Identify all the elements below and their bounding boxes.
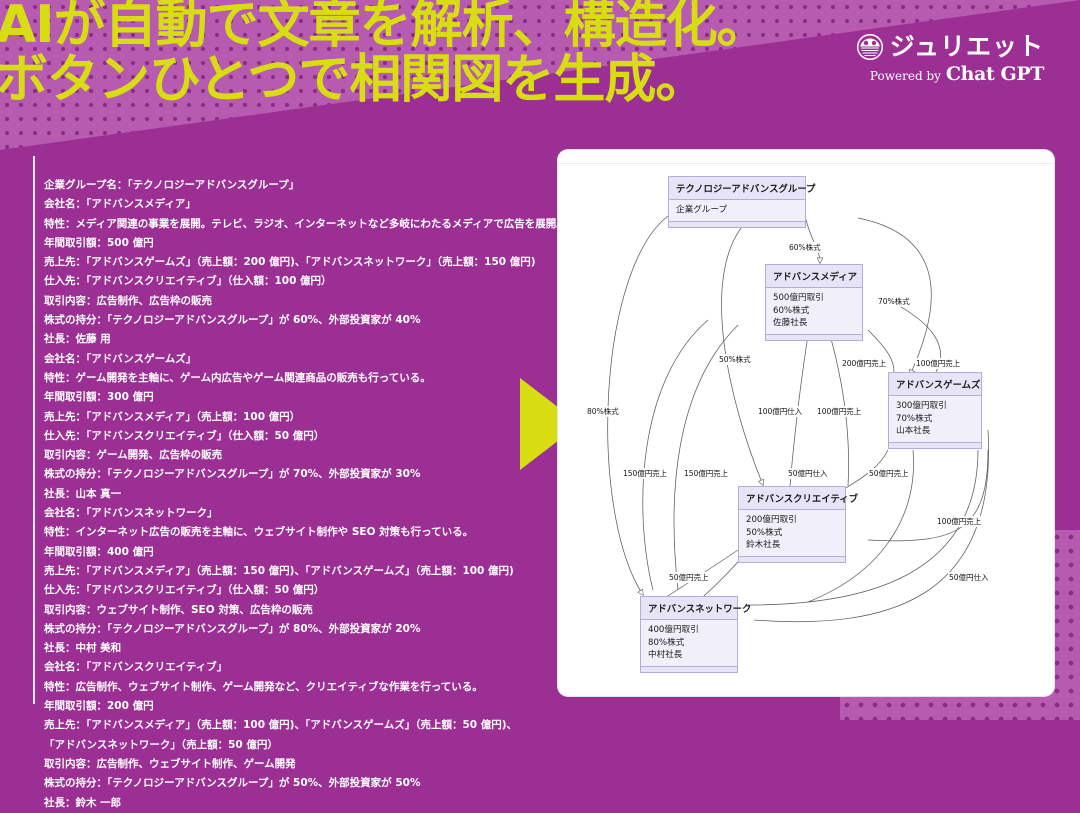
spec-line: 特性：インターネット広告の販売を主軸に、ウェブサイト制作や SEO 対策も行って… [44,523,544,542]
diagram-node-media[interactable]: アドバンスメディア 500億円取引 60%株式 佐藤社長 [765,264,863,341]
spec-line: 取引内容：ゲーム開発、広告枠の販売 [44,446,544,465]
page-header: AIが自動で文章を解析、構造化。 ボタンひとつで相関図を生成。 ジュリエット P… [0,0,1080,150]
node-title: アドバンスメディア [766,265,862,288]
headline-line-1: AIが自動で文章を解析、構造化。 [0,0,768,55]
diagram-node-group[interactable]: テクノロジーアドバンスグループ 企業グループ [668,176,806,228]
logo-powered-by: Powered by [870,69,941,83]
edge-label: 80%株式 [586,406,620,417]
edge-label: 150億円売上 [683,468,729,479]
spec-line: 売上先：「アドバンスゲームズ」（売上額：200 億円)、「アドバンスネットワーク… [44,253,544,272]
diagram-node-network[interactable]: アドバンスネットワーク 400億円取引 80%株式 中村社長 [640,596,738,673]
logo-wordmark: ジュリエット [890,34,1044,60]
spec-line: 会社名：「アドバンスゲームズ」 [44,350,544,369]
edge-label: 200億円売上 [841,358,887,369]
node-row: 50%株式 [746,527,838,540]
spec-line: 会社名：「アドバンスメディア」 [44,195,544,214]
spec-line: 取引内容：広告制作、ウェブサイト制作、ゲーム開発 [44,755,544,774]
edge-label: 50%株式 [718,354,752,365]
left-panel-divider [33,156,35,704]
node-title: テクノロジーアドバンスグループ [669,177,805,200]
edge-label: 70%株式 [877,296,911,307]
edge-label: 50億円売上 [868,468,909,479]
diagram-node-games[interactable]: アドバンスゲームズ 300億円取引 70%株式 山本社長 [888,372,982,449]
spec-line: 年間取引額：300 億円 [44,388,544,407]
edge-label: 100億円売上 [936,516,982,527]
node-row: 山本社長 [896,425,974,438]
node-row: 企業グループ [676,204,798,217]
spec-line: 特性：メディア関連の事業を展開。テレビ、ラジオ、インターネットなど多岐にわたるメ… [44,215,544,234]
node-footer [889,442,981,448]
spec-line: 特性：広告制作、ウェブサイト制作、ゲーム開発など、クリエイティブな作業を行ってい… [44,678,544,697]
edge-label: 50億円仕入 [787,468,828,479]
logo-chatgpt: Chat GPT [946,63,1044,85]
spec-line: 取引内容：ウェブサイト制作、SEO 対策、広告枠の販売 [44,601,544,620]
spec-line: 仕入先：「アドバンスクリエイティブ」（仕入額：100 億円） [44,272,544,291]
node-title: アドバンスネットワーク [641,597,737,620]
node-footer [739,556,845,562]
spec-line: 社長：鈴木 一郎 [44,794,544,813]
spec-line: 年間取引額：400 億円 [44,543,544,562]
spec-line: 「アドバンスネットワーク」（売上額：50 億円） [44,736,544,755]
spec-line: 社長：佐藤 用 [44,330,544,349]
node-row: 70%株式 [896,413,974,426]
spec-line: 売上先：「アドバンスメディア」（売上額：150 億円)、「アドバンスゲームズ」（… [44,562,544,581]
node-row: 200億円取引 [746,514,838,527]
node-row: 中村社長 [648,649,730,662]
edge-label: 50億円仕入 [948,572,989,583]
node-row: 60%株式 [773,305,855,318]
edge-label: 100億円売上 [915,358,961,369]
node-title: アドバンスゲームズ [889,373,981,396]
spec-line: 株式の持分：「テクノロジーアドバンスグループ」が 60%、外部投資家が 40% [44,311,544,330]
spec-line: 取引内容：広告制作、広告枠の販売 [44,292,544,311]
edge-label: 60%株式 [788,242,822,253]
spec-line: 仕入先：「アドバンスクリエイティブ」（仕入額：50 億円） [44,581,544,600]
diagram-node-creative[interactable]: アドバンスクリエイティブ 200億円取引 50%株式 鈴木社長 [738,486,846,563]
node-row: 500億円取引 [773,292,855,305]
diagram-panel: テクノロジーアドバンスグループ 企業グループ アドバンスメディア 500億円取引… [558,150,1054,696]
headline: AIが自動で文章を解析、構造化。 ボタンひとつで相関図を生成。 [0,0,866,108]
node-row: 400億円取引 [648,624,730,637]
spec-line: 年間取引額：200 億円 [44,697,544,716]
spec-line: 会社名：「アドバンスネットワーク」 [44,504,544,523]
spec-line: 仕入先：「アドバンスクリエイティブ」（仕入額：50 億円） [44,427,544,446]
edge-label: 50億円売上 [668,572,709,583]
spec-line: 株式の持分：「テクノロジーアドバンスグループ」が 50%、外部投資家が 50% [44,774,544,793]
edge-label: 100億円売上 [816,406,862,417]
node-footer [766,334,862,340]
spec-line: 特性：ゲーム開発を主軸に、ゲーム内広告やゲーム関連商品の販売も行っている。 [44,369,544,388]
node-row: 300億円取引 [896,400,974,413]
brand-logo: ジュリエット Powered by Chat GPT [857,34,1044,85]
spec-line: 社長：山本 真一 [44,485,544,504]
node-footer [641,666,737,672]
spec-line: 株式の持分：「テクノロジーアドバンスグループ」が 80%、外部投資家が 20% [44,620,544,639]
spec-line: 株式の持分：「テクノロジーアドバンスグループ」が 70%、外部投資家が 30% [44,465,544,484]
edge-label: 150億円売上 [622,468,668,479]
node-row: 佐藤社長 [773,317,855,330]
spec-line: 年間取引額：500 億円 [44,234,544,253]
spec-line: 会社名：「アドバンスクリエイティブ」 [44,658,544,677]
node-row: 80%株式 [648,637,730,650]
juliet-mark-icon [857,34,883,60]
node-title: アドバンスクリエイティブ [739,487,845,510]
headline-line-2: ボタンひとつで相関図を生成。 [0,53,866,108]
spec-line: 社長：中村 美和 [44,639,544,658]
node-footer [669,221,805,227]
spec-line: 売上先：「アドバンスメディア」（売上額：100 億円） [44,408,544,427]
edge-label: 100億円仕入 [757,406,803,417]
spec-line: 売上先：「アドバンスメディア」（売上額：100 億円)、「アドバンスゲームズ」（… [44,716,544,735]
spec-line: 企業グループ名：「テクノロジーアドバンスグループ」 [44,176,544,195]
spec-text-panel: 企業グループ名：「テクノロジーアドバンスグループ」会社名：「アドバンスメディア」… [44,176,544,813]
node-row: 鈴木社長 [746,539,838,552]
